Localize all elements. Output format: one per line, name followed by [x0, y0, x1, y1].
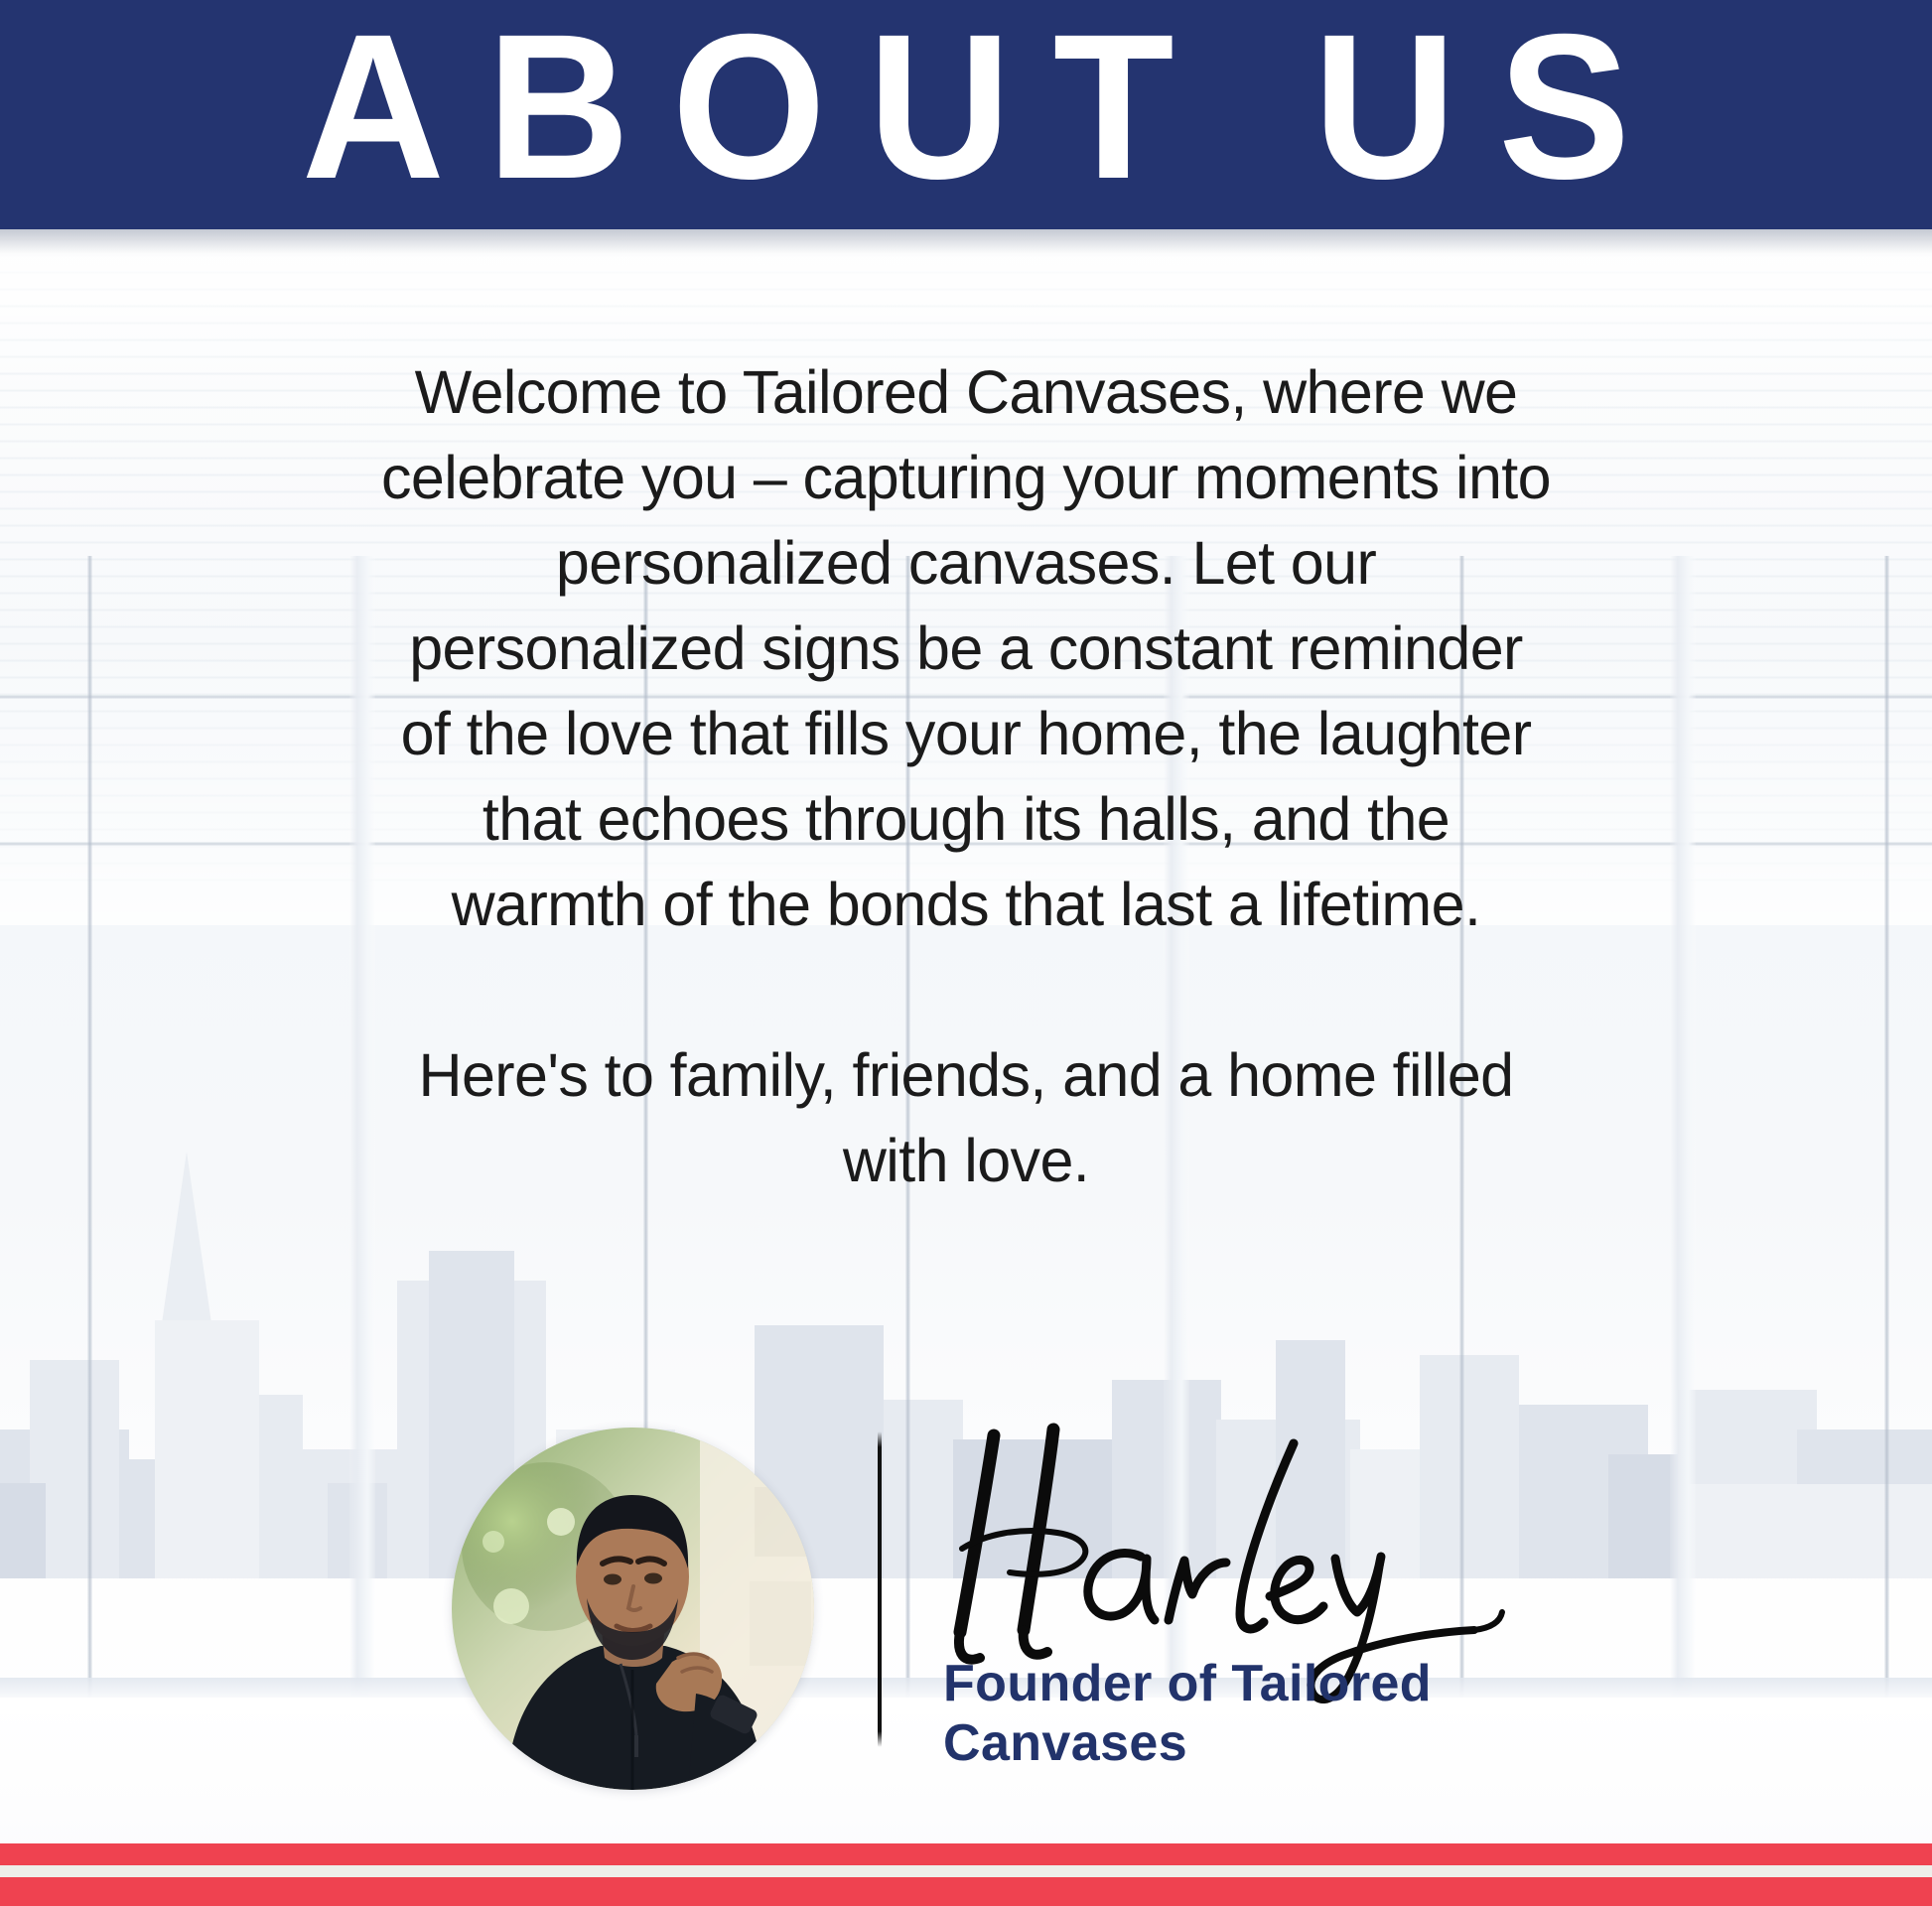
about-us-poster: ABOUT US Welcome to Tailored Canvases, w…: [0, 0, 1932, 1906]
header-drop-shadow: [0, 229, 1932, 255]
signature-role: Founder of Tailored Canvases: [943, 1654, 1638, 1773]
paragraph-closing: Here's to family, friends, and a home fi…: [380, 1032, 1552, 1203]
paragraph-intro: Welcome to Tailored Canvases, where we c…: [380, 349, 1552, 947]
footer-stripe-top: [0, 1843, 1932, 1865]
footer-stripe-gap: [0, 1865, 1932, 1877]
about-us-copy: Welcome to Tailored Canvases, where we c…: [380, 349, 1552, 1203]
signature-block: Founder of Tailored Canvases: [0, 1400, 1932, 1846]
page-title: ABOUT US: [39, 4, 1893, 210]
signature-role-line-1: Founder of Tailored: [943, 1654, 1638, 1713]
signature-role-line-2: Canvases: [943, 1713, 1638, 1773]
footer-stripe-bottom: [0, 1877, 1932, 1906]
header-bar: ABOUT US: [0, 0, 1932, 229]
signature-divider: [878, 1431, 882, 1747]
avatar: [452, 1428, 814, 1790]
